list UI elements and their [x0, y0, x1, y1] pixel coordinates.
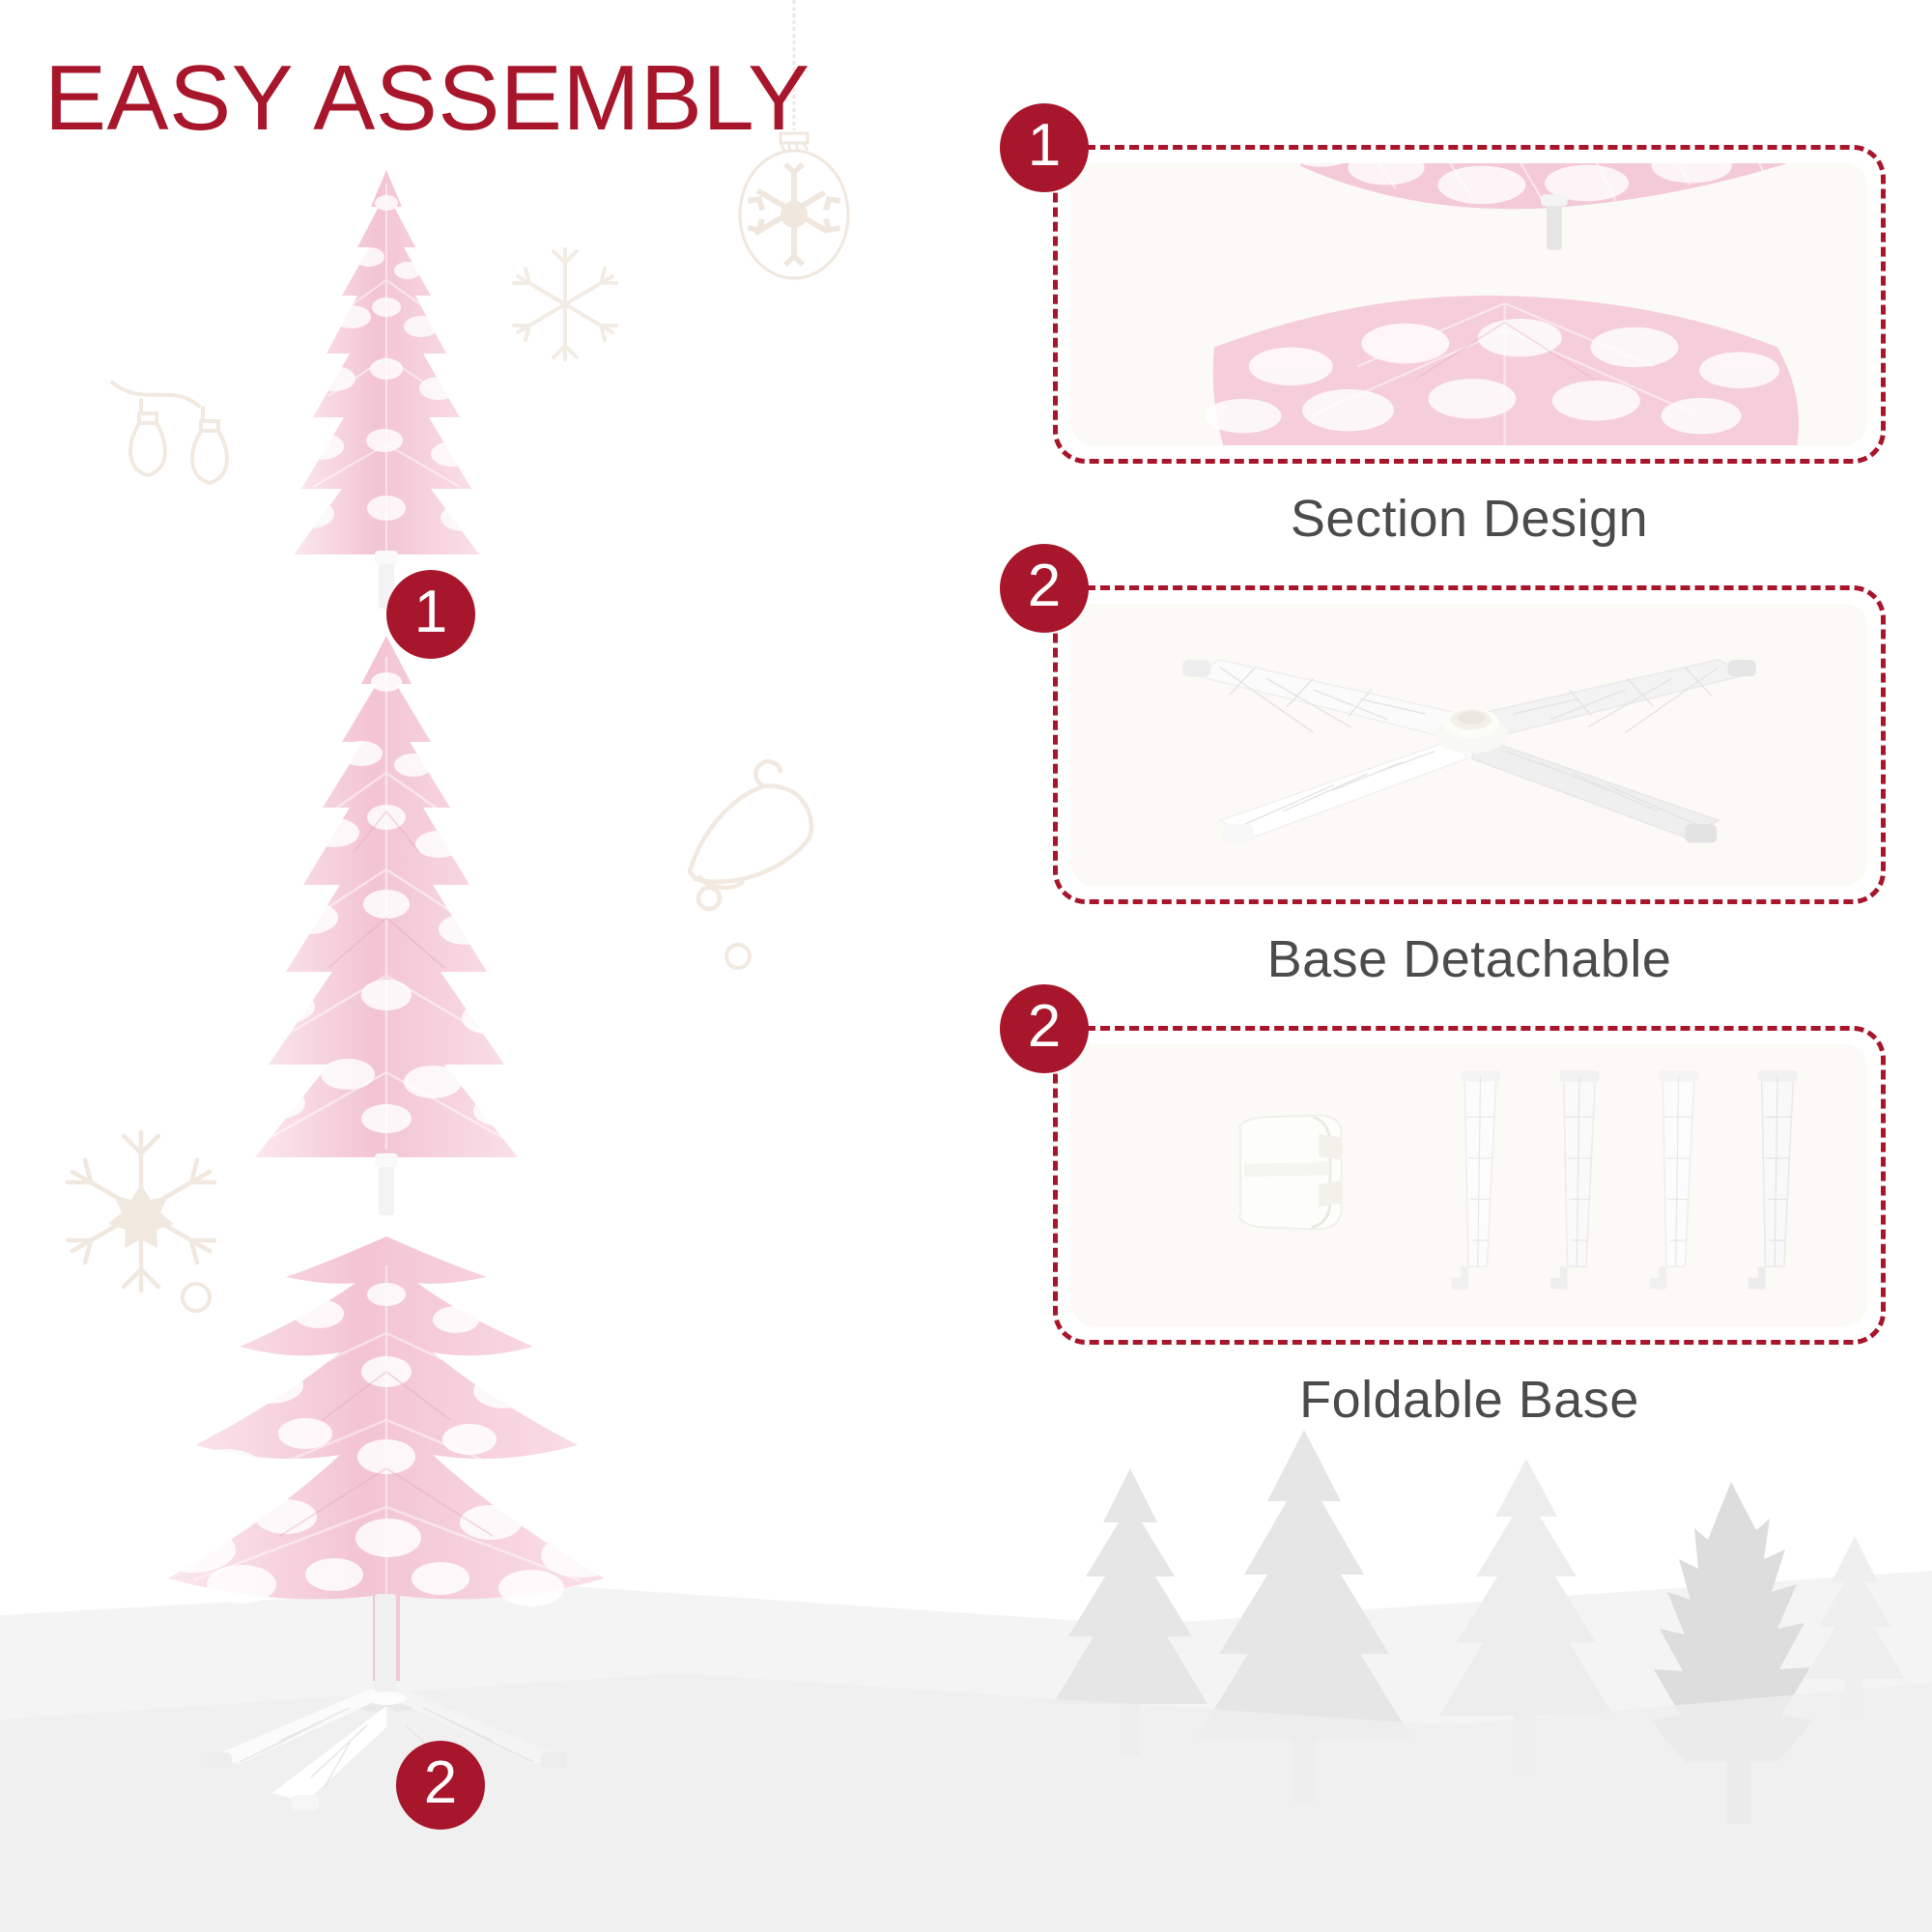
panel-frame: 2	[1053, 585, 1886, 904]
bell-dot-icon	[717, 935, 759, 978]
feature-panel-list: 1 Section Design	[1053, 145, 1886, 1466]
panel-frame: 2	[1053, 1026, 1886, 1345]
badge-number: 1	[1028, 116, 1061, 176]
panel-caption: Section Design	[1053, 489, 1886, 549]
product-exploded-view: 1	[116, 164, 657, 1884]
bell-icon	[667, 744, 840, 927]
panel-image-base-detachable	[1071, 604, 1867, 886]
badge-section-join-1: 1	[386, 570, 475, 659]
panel-frame: 1	[1053, 145, 1886, 464]
badge-number: 1	[414, 582, 447, 642]
page-title: EASY ASSEMBLY	[44, 50, 810, 148]
panel-image-foldable-base	[1071, 1044, 1867, 1326]
badge-panel-1: 1	[1000, 103, 1089, 192]
connector-sleeve-shape	[1239, 1115, 1341, 1229]
panel-foldable-base: 2 Foldable Base	[1053, 1026, 1886, 1430]
panel-image-section-design	[1071, 163, 1867, 445]
panel-section-design: 1 Section Design	[1053, 145, 1886, 549]
panel-caption: Foldable Base	[1053, 1370, 1886, 1430]
tree-stand-shape	[207, 1689, 566, 1810]
panel-base-detachable: 2 Base Detachable	[1053, 585, 1886, 989]
badge-number: 2	[424, 1753, 457, 1813]
badge-number: 2	[1028, 556, 1061, 616]
badge-stand-2: 2	[396, 1741, 485, 1830]
badge-number: 2	[1028, 997, 1061, 1057]
badge-panel-2: 2	[1000, 544, 1089, 633]
infographic-canvas: EASY ASSEMBLY	[0, 0, 1932, 1932]
tree-section-middle	[155, 628, 618, 1236]
tree-section-top	[232, 164, 541, 618]
badge-panel-3: 2	[1000, 984, 1089, 1073]
panel-caption: Base Detachable	[1053, 929, 1886, 989]
tree-section-bottom	[126, 1227, 647, 1826]
